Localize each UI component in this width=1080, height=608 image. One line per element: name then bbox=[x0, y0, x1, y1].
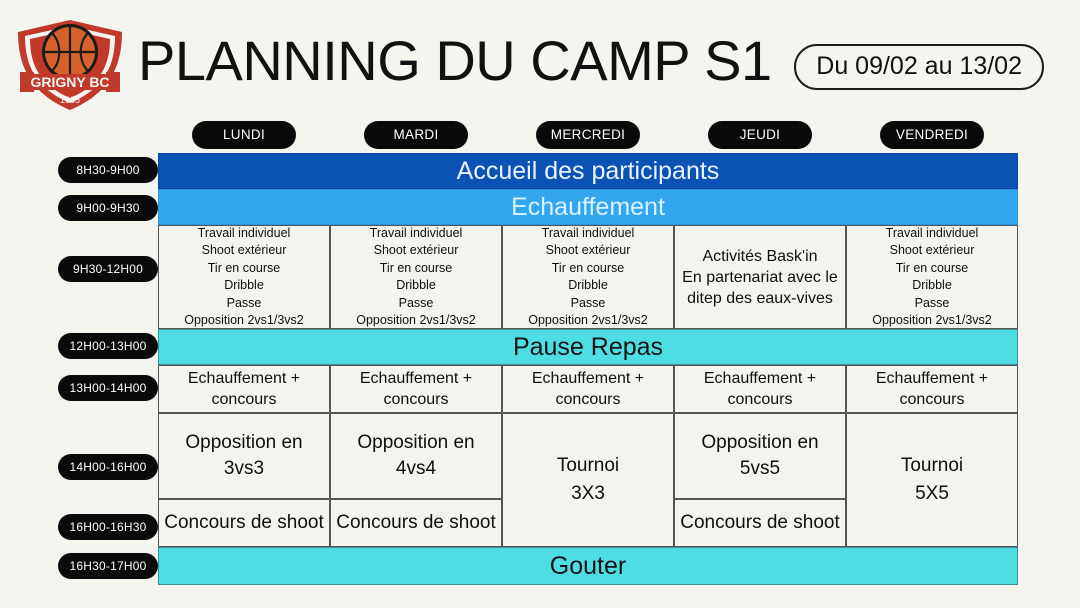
activity-line: 5vs5 bbox=[740, 456, 780, 482]
cell-mercredi-morning[interactable]: Travail individuel Shoot extérieur Tir e… bbox=[502, 225, 674, 329]
time-slot-1630-1700: 16H30-17H00 bbox=[58, 553, 158, 579]
activity-line: Tir en course bbox=[896, 260, 968, 278]
activity-line: Dribble bbox=[224, 277, 264, 295]
activity-line: En partenariat avec le bbox=[682, 267, 838, 288]
page-header: GRIGNY BC 1965 PLANNING DU CAMP S1 Du 09… bbox=[0, 0, 1080, 112]
cell-jeudi-opposition[interactable]: Opposition en 5vs5 bbox=[674, 413, 846, 499]
time-slot-0930-1200: 9H30-12H00 bbox=[58, 256, 158, 282]
time-slot-1400-1600: 14H00-16H00 bbox=[58, 454, 158, 480]
activity-line: Tournoi bbox=[557, 452, 619, 480]
activity-line: Passe bbox=[399, 295, 434, 313]
activity-line: concours bbox=[212, 389, 277, 410]
cell-vendredi-tournoi-5x5[interactable]: Tournoi 5X5 bbox=[846, 413, 1018, 547]
activity-line: Echauffement + bbox=[876, 368, 988, 389]
activity-line: Opposition 2vs1/3vs2 bbox=[356, 312, 476, 330]
col-vendredi-afternoon: Tournoi 5X5 bbox=[846, 413, 1018, 547]
row-morning-activities: Travail individuel Shoot extérieur Tir e… bbox=[158, 225, 1018, 329]
activity-line: Shoot extérieur bbox=[890, 242, 975, 260]
activity-line: Dribble bbox=[568, 277, 608, 295]
cell-mercredi-warmup[interactable]: Echauffement + concours bbox=[502, 365, 674, 413]
activity-line: Travail individuel bbox=[370, 225, 463, 243]
time-slot-0830-0900: 8H30-9H00 bbox=[58, 157, 158, 183]
activity-line: 3X3 bbox=[571, 480, 605, 508]
day-header-cell-mercredi: MERCREDI bbox=[502, 117, 674, 153]
activity-line: Opposition 2vs1/3vs2 bbox=[528, 312, 648, 330]
time-slot-1200-1300: 12H00-13H00 bbox=[58, 333, 158, 359]
activity-line: concours bbox=[384, 389, 449, 410]
activity-line: Echauffement + bbox=[532, 368, 644, 389]
svg-text:GRIGNY BC: GRIGNY BC bbox=[30, 74, 109, 90]
row-afternoon-warmup: Echauffement + concours Echauffement + c… bbox=[158, 365, 1018, 413]
band-gouter: Gouter bbox=[158, 547, 1018, 585]
activity-line: Tir en course bbox=[552, 260, 624, 278]
activity-line: Travail individuel bbox=[542, 225, 635, 243]
activity-line: Tir en course bbox=[208, 260, 280, 278]
day-pill-vendredi: VENDREDI bbox=[880, 121, 984, 149]
day-header-cell-lundi: LUNDI bbox=[158, 117, 330, 153]
cell-mardi-opposition[interactable]: Opposition en 4vs4 bbox=[330, 413, 502, 499]
activity-line: Echauffement + bbox=[188, 368, 300, 389]
time-slot-0900-0930: 9H00-9H30 bbox=[58, 195, 158, 221]
activity-line: Shoot extérieur bbox=[374, 242, 459, 260]
day-header-row: LUNDI MARDI MERCREDI JEUDI VENDREDI bbox=[158, 117, 1018, 153]
activity-line: Opposition 2vs1/3vs2 bbox=[872, 312, 992, 330]
cell-jeudi-warmup[interactable]: Echauffement + concours bbox=[674, 365, 846, 413]
cell-lundi-opposition[interactable]: Opposition en 3vs3 bbox=[158, 413, 330, 499]
date-range-badge: Du 09/02 au 13/02 bbox=[794, 44, 1044, 90]
cell-jeudi-concours-shoot[interactable]: Concours de shoot bbox=[674, 499, 846, 547]
time-slot-column: 8H30-9H00 9H00-9H30 9H30-12H00 12H00-13H… bbox=[58, 153, 158, 585]
day-pill-lundi: LUNDI bbox=[192, 121, 296, 149]
activity-line: Concours de shoot bbox=[164, 510, 324, 536]
activity-line: Opposition 2vs1/3vs2 bbox=[184, 312, 304, 330]
cell-mardi-concours-shoot[interactable]: Concours de shoot bbox=[330, 499, 502, 547]
activity-line: 3vs3 bbox=[224, 456, 264, 482]
activity-line: Concours de shoot bbox=[336, 510, 496, 536]
svg-text:1965: 1965 bbox=[60, 95, 80, 105]
row-afternoon-main: Opposition en 3vs3 Concours de shoot Opp… bbox=[158, 413, 1018, 547]
activity-line: Dribble bbox=[912, 277, 952, 295]
activity-line: 4vs4 bbox=[396, 456, 436, 482]
activity-line: Passe bbox=[227, 295, 262, 313]
cell-mercredi-tournoi-3x3[interactable]: Tournoi 3X3 bbox=[502, 413, 674, 547]
cell-mardi-morning[interactable]: Travail individuel Shoot extérieur Tir e… bbox=[330, 225, 502, 329]
activity-line: Dribble bbox=[396, 277, 436, 295]
activity-line: 5X5 bbox=[915, 480, 949, 508]
day-header-cell-vendredi: VENDREDI bbox=[846, 117, 1018, 153]
time-slot-1600-1630: 16H00-16H30 bbox=[58, 514, 158, 540]
basketball-shield-logo-icon: GRIGNY BC 1965 bbox=[10, 18, 130, 112]
day-header-cell-jeudi: JEUDI bbox=[674, 117, 846, 153]
cell-vendredi-morning[interactable]: Travail individuel Shoot extérieur Tir e… bbox=[846, 225, 1018, 329]
col-lundi-afternoon: Opposition en 3vs3 Concours de shoot bbox=[158, 413, 330, 547]
activity-line: concours bbox=[556, 389, 621, 410]
activity-line: Activités Bask'in bbox=[702, 246, 817, 267]
page-title: PLANNING DU CAMP S1 bbox=[138, 30, 772, 92]
cell-jeudi-morning[interactable]: Activités Bask'in En partenariat avec le… bbox=[674, 225, 846, 329]
activity-line: Opposition en bbox=[701, 430, 818, 456]
day-pill-mercredi: MERCREDI bbox=[536, 121, 640, 149]
cell-lundi-warmup[interactable]: Echauffement + concours bbox=[158, 365, 330, 413]
activity-line: Concours de shoot bbox=[680, 510, 840, 536]
activity-line: Tournoi bbox=[901, 452, 963, 480]
activity-line: Shoot extérieur bbox=[202, 242, 287, 260]
day-header-cell-mardi: MARDI bbox=[330, 117, 502, 153]
schedule-grid: Accueil des participants Echauffement Tr… bbox=[158, 153, 1018, 585]
activity-line: concours bbox=[900, 389, 965, 410]
col-jeudi-afternoon: Opposition en 5vs5 Concours de shoot bbox=[674, 413, 846, 547]
col-mardi-afternoon: Opposition en 4vs4 Concours de shoot bbox=[330, 413, 502, 547]
activity-line: Opposition en bbox=[357, 430, 474, 456]
club-logo: GRIGNY BC 1965 bbox=[10, 18, 130, 112]
band-echauffement: Echauffement bbox=[158, 189, 1018, 225]
day-pill-jeudi: JEUDI bbox=[708, 121, 812, 149]
activity-line: Shoot extérieur bbox=[546, 242, 631, 260]
activity-line: Passe bbox=[915, 295, 950, 313]
cell-vendredi-warmup[interactable]: Echauffement + concours bbox=[846, 365, 1018, 413]
activity-line: Echauffement + bbox=[360, 368, 472, 389]
activity-line: ditep des eaux-vives bbox=[687, 288, 833, 309]
cell-mardi-warmup[interactable]: Echauffement + concours bbox=[330, 365, 502, 413]
activity-line: Opposition en bbox=[185, 430, 302, 456]
col-mercredi-afternoon: Tournoi 3X3 bbox=[502, 413, 674, 547]
activity-line: Travail individuel bbox=[198, 225, 291, 243]
activity-line: Travail individuel bbox=[886, 225, 979, 243]
activity-line: Tir en course bbox=[380, 260, 452, 278]
activity-line: Passe bbox=[571, 295, 606, 313]
band-accueil-des-participants: Accueil des participants bbox=[158, 153, 1018, 189]
activity-line: concours bbox=[728, 389, 793, 410]
time-slot-1300-1400: 13H00-14H00 bbox=[58, 375, 158, 401]
activity-line: Echauffement + bbox=[704, 368, 816, 389]
band-pause-repas: Pause Repas bbox=[158, 329, 1018, 365]
cell-lundi-morning[interactable]: Travail individuel Shoot extérieur Tir e… bbox=[158, 225, 330, 329]
day-pill-mardi: MARDI bbox=[364, 121, 468, 149]
cell-lundi-concours-shoot[interactable]: Concours de shoot bbox=[158, 499, 330, 547]
